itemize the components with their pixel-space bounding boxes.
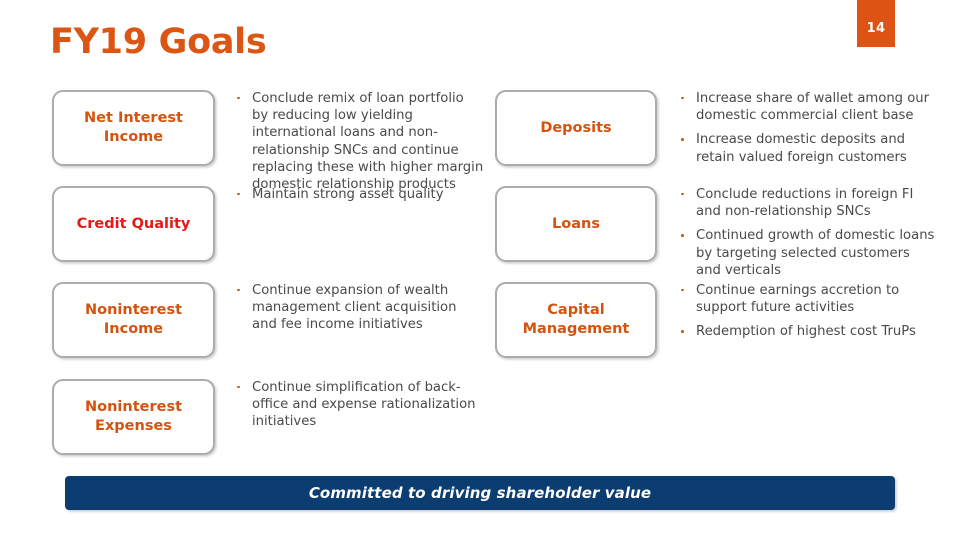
list-item: Continue earnings accretion to support f… — [680, 282, 935, 316]
goal-row-loans: Loans Conclude reductions in foreign FI … — [495, 186, 935, 279]
goal-box-label: Noninterest Expenses — [54, 398, 213, 435]
bullet-dot-icon — [237, 289, 240, 292]
bullet-text: Continue expansion of wealth management … — [252, 283, 456, 332]
list-item: Redemption of highest cost TruPs — [680, 323, 935, 340]
bullet-text: Increase share of wallet among our domes… — [696, 91, 929, 123]
goal-box-deposits: Deposits — [495, 90, 657, 166]
goal-box-noninterest-expenses: Noninterest Expenses — [52, 379, 215, 455]
page-title: FY19 Goals — [50, 22, 266, 62]
bullet-dot-icon — [681, 97, 684, 100]
list-item: Conclude remix of loan portfolio by redu… — [236, 90, 484, 193]
bullet-text: Continue simplification of back-office a… — [252, 380, 476, 429]
list-item: Increase share of wallet among our domes… — [680, 90, 935, 124]
list-item: Conclude reductions in foreign FI and no… — [680, 186, 935, 220]
goal-box-label: Loans — [546, 215, 606, 234]
list-item: Continue expansion of wealth management … — [236, 282, 484, 334]
bullet-text: Conclude remix of loan portfolio by redu… — [252, 91, 483, 192]
goal-row-noninterest-expenses: Noninterest Expenses Continue simplifica… — [52, 379, 484, 455]
bullet-text: Increase domestic deposits and retain va… — [696, 132, 907, 164]
goal-box-capital-management: Capital Management — [495, 282, 657, 358]
bullet-dot-icon — [681, 138, 684, 141]
bullet-dot-icon — [237, 193, 240, 196]
bullet-dot-icon — [237, 97, 240, 100]
goal-box-label: Capital Management — [497, 301, 655, 338]
bullet-dot-icon — [681, 330, 684, 333]
goal-row-deposits: Deposits Increase share of wallet among … — [495, 90, 935, 166]
bullet-list: Continue expansion of wealth management … — [236, 282, 484, 334]
goal-box-label: Noninterest Income — [54, 301, 213, 338]
goal-row-credit-quality: Credit Quality Maintain strong asset qua… — [52, 186, 484, 262]
bullet-list: Maintain strong asset quality — [236, 186, 484, 203]
goal-box-label: Net Interest Income — [54, 109, 213, 146]
bullet-dot-icon — [681, 289, 684, 292]
goal-box-label: Credit Quality — [71, 215, 197, 234]
bullet-list: Continue simplification of back-office a… — [236, 379, 484, 431]
bullet-dot-icon — [681, 234, 684, 237]
bullet-list: Continue earnings accretion to support f… — [680, 282, 935, 341]
slide-canvas: 14 FY19 Goals Net Interest Income Conclu… — [0, 0, 960, 540]
bullet-text: Maintain strong asset quality — [252, 187, 444, 202]
bullet-text: Redemption of highest cost TruPs — [696, 324, 916, 339]
goal-box-net-interest-income: Net Interest Income — [52, 90, 215, 166]
footer-banner: Committed to driving shareholder value — [65, 476, 895, 510]
goal-row-capital-management: Capital Management Continue earnings acc… — [495, 282, 935, 358]
list-item: Maintain strong asset quality — [236, 186, 484, 203]
goal-row-net-interest-income: Net Interest Income Conclude remix of lo… — [52, 90, 484, 193]
bullet-text: Conclude reductions in foreign FI and no… — [696, 187, 913, 219]
bullet-text: Continue earnings accretion to support f… — [696, 283, 899, 315]
bullet-list: Conclude remix of loan portfolio by redu… — [236, 90, 484, 193]
bullet-dot-icon — [681, 193, 684, 196]
goal-box-loans: Loans — [495, 186, 657, 262]
list-item: Increase domestic deposits and retain va… — [680, 131, 935, 165]
bullet-list: Increase share of wallet among our domes… — [680, 90, 935, 166]
goal-box-label: Deposits — [534, 119, 617, 138]
goal-box-noninterest-income: Noninterest Income — [52, 282, 215, 358]
list-item: Continued growth of domestic loans by ta… — [680, 227, 935, 279]
goal-box-credit-quality: Credit Quality — [52, 186, 215, 262]
list-item: Continue simplification of back-office a… — [236, 379, 484, 431]
bullet-text: Continued growth of domestic loans by ta… — [696, 228, 934, 277]
page-number-badge: 14 — [857, 0, 895, 47]
bullet-list: Conclude reductions in foreign FI and no… — [680, 186, 935, 279]
bullet-dot-icon — [237, 386, 240, 389]
footer-banner-text: Committed to driving shareholder value — [309, 484, 651, 502]
goal-row-noninterest-income: Noninterest Income Continue expansion of… — [52, 282, 484, 358]
